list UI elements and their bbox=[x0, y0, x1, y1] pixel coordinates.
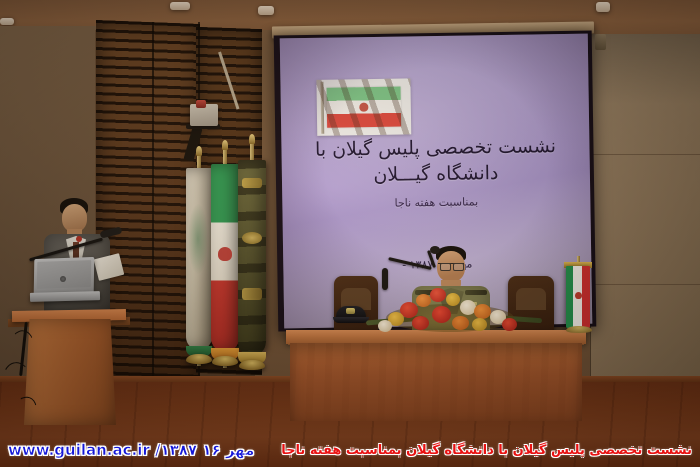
wall-right-stone bbox=[590, 34, 700, 424]
iran-emblem-icon-standing bbox=[218, 247, 232, 261]
officer-lens-left bbox=[440, 263, 451, 271]
flag-base-white bbox=[186, 354, 212, 364]
flower-orange-1 bbox=[416, 294, 431, 307]
laptop-keyboard-base[interactable] bbox=[30, 291, 100, 302]
flower-yellow-1 bbox=[446, 293, 460, 306]
flag-finial-white bbox=[196, 146, 202, 156]
flower-red-3 bbox=[432, 306, 451, 323]
flower-red-4 bbox=[412, 316, 429, 330]
flower-orange-3 bbox=[452, 316, 469, 330]
speaker-papers bbox=[94, 253, 125, 281]
officer-lens-right bbox=[453, 263, 464, 271]
floral-arrangement bbox=[372, 288, 528, 336]
ceiling-light-2 bbox=[258, 6, 274, 15]
flower-orange-2 bbox=[474, 304, 491, 319]
ceiling-light-4 bbox=[596, 2, 610, 12]
standing-flag-olive bbox=[238, 160, 266, 356]
ceiling-light-1 bbox=[170, 2, 190, 10]
cap-emblem-icon bbox=[346, 308, 355, 314]
flag-base-iran bbox=[212, 356, 238, 366]
standing-flag-white bbox=[186, 168, 212, 350]
wall-speaker-box bbox=[595, 34, 606, 50]
laptop-screen bbox=[37, 260, 91, 289]
desk-flag-emblem-icon bbox=[575, 292, 582, 299]
flower-white-3 bbox=[378, 320, 392, 332]
standing-flag-iran bbox=[211, 164, 239, 352]
flag-emblem-olive-2 bbox=[242, 232, 262, 244]
desk-flag-iran bbox=[566, 266, 590, 328]
projector-lens-icon bbox=[196, 100, 206, 108]
speaker-head bbox=[62, 204, 87, 232]
ceiling-light-3 bbox=[0, 18, 14, 25]
slat-panel-seam bbox=[152, 22, 154, 382]
flag-finial-olive bbox=[249, 134, 255, 144]
podium-body bbox=[24, 319, 116, 425]
officer-cap bbox=[336, 306, 366, 324]
podium-mic-indicator bbox=[76, 236, 82, 242]
officer-mic-base bbox=[382, 268, 388, 290]
officer-mic-head bbox=[430, 246, 440, 254]
flag-cloth-olive bbox=[238, 160, 266, 356]
conference-photo: نشست تخصصی پلیس گیلان با دانشگاه گیـــلا… bbox=[0, 0, 700, 467]
desk-front-panel bbox=[290, 343, 582, 421]
flag-base-olive bbox=[239, 360, 265, 370]
cap-brim bbox=[333, 317, 369, 323]
flower-yellow-3 bbox=[472, 318, 487, 331]
flag-finial-iran bbox=[222, 140, 228, 150]
flower-red-5 bbox=[502, 318, 517, 331]
flag-emblem-olive-1 bbox=[242, 178, 262, 188]
desk-flag-base bbox=[566, 326, 592, 333]
flag-emblem-olive-3 bbox=[242, 288, 262, 300]
flower-red-1 bbox=[430, 288, 446, 302]
laptop-logo-icon bbox=[60, 276, 66, 282]
flag-emblem-white bbox=[188, 204, 208, 274]
